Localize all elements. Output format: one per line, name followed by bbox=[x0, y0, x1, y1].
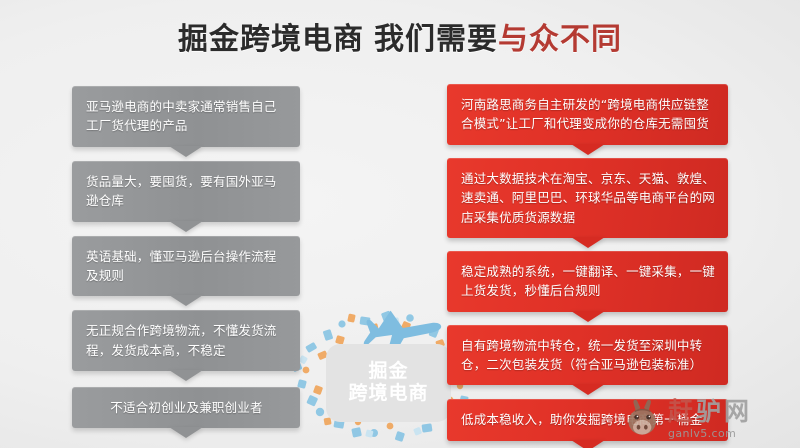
callout-notch-icon bbox=[571, 311, 605, 322]
right-callout-2[interactable]: 通过大数据技术在淘宝、京东、天猫、敦煌、速卖通、阿里巴巴、环球华品等电商平台的网… bbox=[447, 158, 728, 238]
left-callout-4-text: 无正规合作跨境物流，不懂发货流程，发货成本高，不稳定 bbox=[86, 323, 277, 357]
right-callout-1[interactable]: 河南路思商务自主研发的“跨境电商供应链整合模式”让工厂和代理变成你的仓库无需囤货 bbox=[447, 84, 728, 145]
left-callout-3-text: 英语基础，懂亚马逊后台操作流程及规则 bbox=[86, 249, 277, 283]
center-logo-line-2: 跨境电商 bbox=[348, 383, 428, 405]
callout-notch-icon bbox=[169, 221, 203, 232]
left-callout-2[interactable]: 货品量大，要囤货，要有国外亚马逊仓库 bbox=[72, 161, 300, 222]
title-highlight: 与众不同 bbox=[498, 22, 622, 57]
right-column: 河南路思商务自主研发的“跨境电商供应链整合模式”让工厂和代理变成你的仓库无需囤货… bbox=[447, 84, 728, 441]
center-logo-line-1: 掘金 bbox=[368, 361, 408, 383]
watermark-brand-char-3: 网 bbox=[724, 397, 752, 426]
left-callout-4[interactable]: 无正规合作跨境物流，不懂发货流程，发货成本高，不稳定 bbox=[72, 310, 300, 371]
watermark: 赶驴网 ganlv5.com bbox=[622, 392, 794, 446]
left-callout-1[interactable]: 亚马逊电商的中卖家通常销售自己工厂货代理的产品 bbox=[72, 86, 300, 147]
page-title: 掘金跨境电商我们需要与众不同 bbox=[0, 14, 800, 58]
callout-notch-icon bbox=[571, 384, 605, 395]
callout-notch-icon bbox=[571, 144, 605, 155]
right-callout-3-text: 稳定成熟的系统，一键翻译、一键采集，一键上货发货，秒懂后台规则 bbox=[461, 264, 715, 298]
callout-notch-icon bbox=[169, 146, 203, 157]
left-column: 亚马逊电商的中卖家通常销售自己工厂货代理的产品 货品量大，要囤货，要有国外亚马逊… bbox=[72, 86, 300, 428]
airplane-icon bbox=[362, 308, 442, 363]
right-callout-3[interactable]: 稳定成熟的系统，一键翻译、一键采集，一键上货发货，秒懂后台规则 bbox=[447, 251, 728, 312]
left-callout-1-text: 亚马逊电商的中卖家通常销售自己工厂货代理的产品 bbox=[86, 99, 277, 133]
left-callout-5[interactable]: 不适合初创业及兼职创业者 bbox=[72, 387, 300, 428]
callout-notch-icon bbox=[169, 295, 203, 306]
center-logo-panel: 掘金 跨境电商 bbox=[326, 344, 451, 422]
title-text: 掘金跨境电商我们需要与众不同 bbox=[0, 14, 800, 58]
watermark-brand: 赶驴网 bbox=[668, 399, 752, 424]
left-callout-5-text: 不适合初创业及兼职创业者 bbox=[110, 400, 262, 415]
left-callout-2-text: 货品量大，要囤货，要有国外亚马逊仓库 bbox=[86, 174, 277, 208]
callout-notch-icon bbox=[571, 237, 605, 248]
callout-notch-icon bbox=[169, 370, 203, 381]
right-callout-4-text: 自有跨境物流中转仓，统一发货至深圳中转仓，二次包装发货（符合亚马逊包装标准） bbox=[461, 338, 702, 372]
title-part-2: 我们需要 bbox=[374, 22, 498, 57]
airplane-small-icon bbox=[418, 352, 450, 371]
slide-canvas: 掘金跨境电商我们需要与众不同 bbox=[0, 0, 800, 448]
callout-notch-icon bbox=[571, 440, 605, 448]
watermark-text: 赶驴网 ganlv5.com bbox=[668, 399, 752, 440]
watermark-brand-char-1: 赶 bbox=[668, 397, 696, 426]
left-callout-3[interactable]: 英语基础，懂亚马逊后台操作流程及规则 bbox=[72, 236, 300, 297]
right-callout-4[interactable]: 自有跨境物流中转仓，统一发货至深圳中转仓，二次包装发货（符合亚马逊包装标准） bbox=[447, 325, 728, 386]
watermark-brand-char-2: 驴 bbox=[696, 397, 724, 426]
callout-notch-icon bbox=[169, 427, 203, 438]
watermark-url: ganlv5.com bbox=[668, 427, 752, 440]
right-callout-1-text: 河南路思商务自主研发的“跨境电商供应链整合模式”让工厂和代理变成你的仓库无需囤货 bbox=[461, 97, 709, 131]
title-part-1: 掘金跨境电商 bbox=[178, 22, 364, 57]
right-callout-2-text: 通过大数据技术在淘宝、京东、天猫、敦煌、速卖通、阿里巴巴、环球华品等电商平台的网… bbox=[461, 171, 715, 225]
donkey-mascot-icon bbox=[622, 397, 666, 441]
